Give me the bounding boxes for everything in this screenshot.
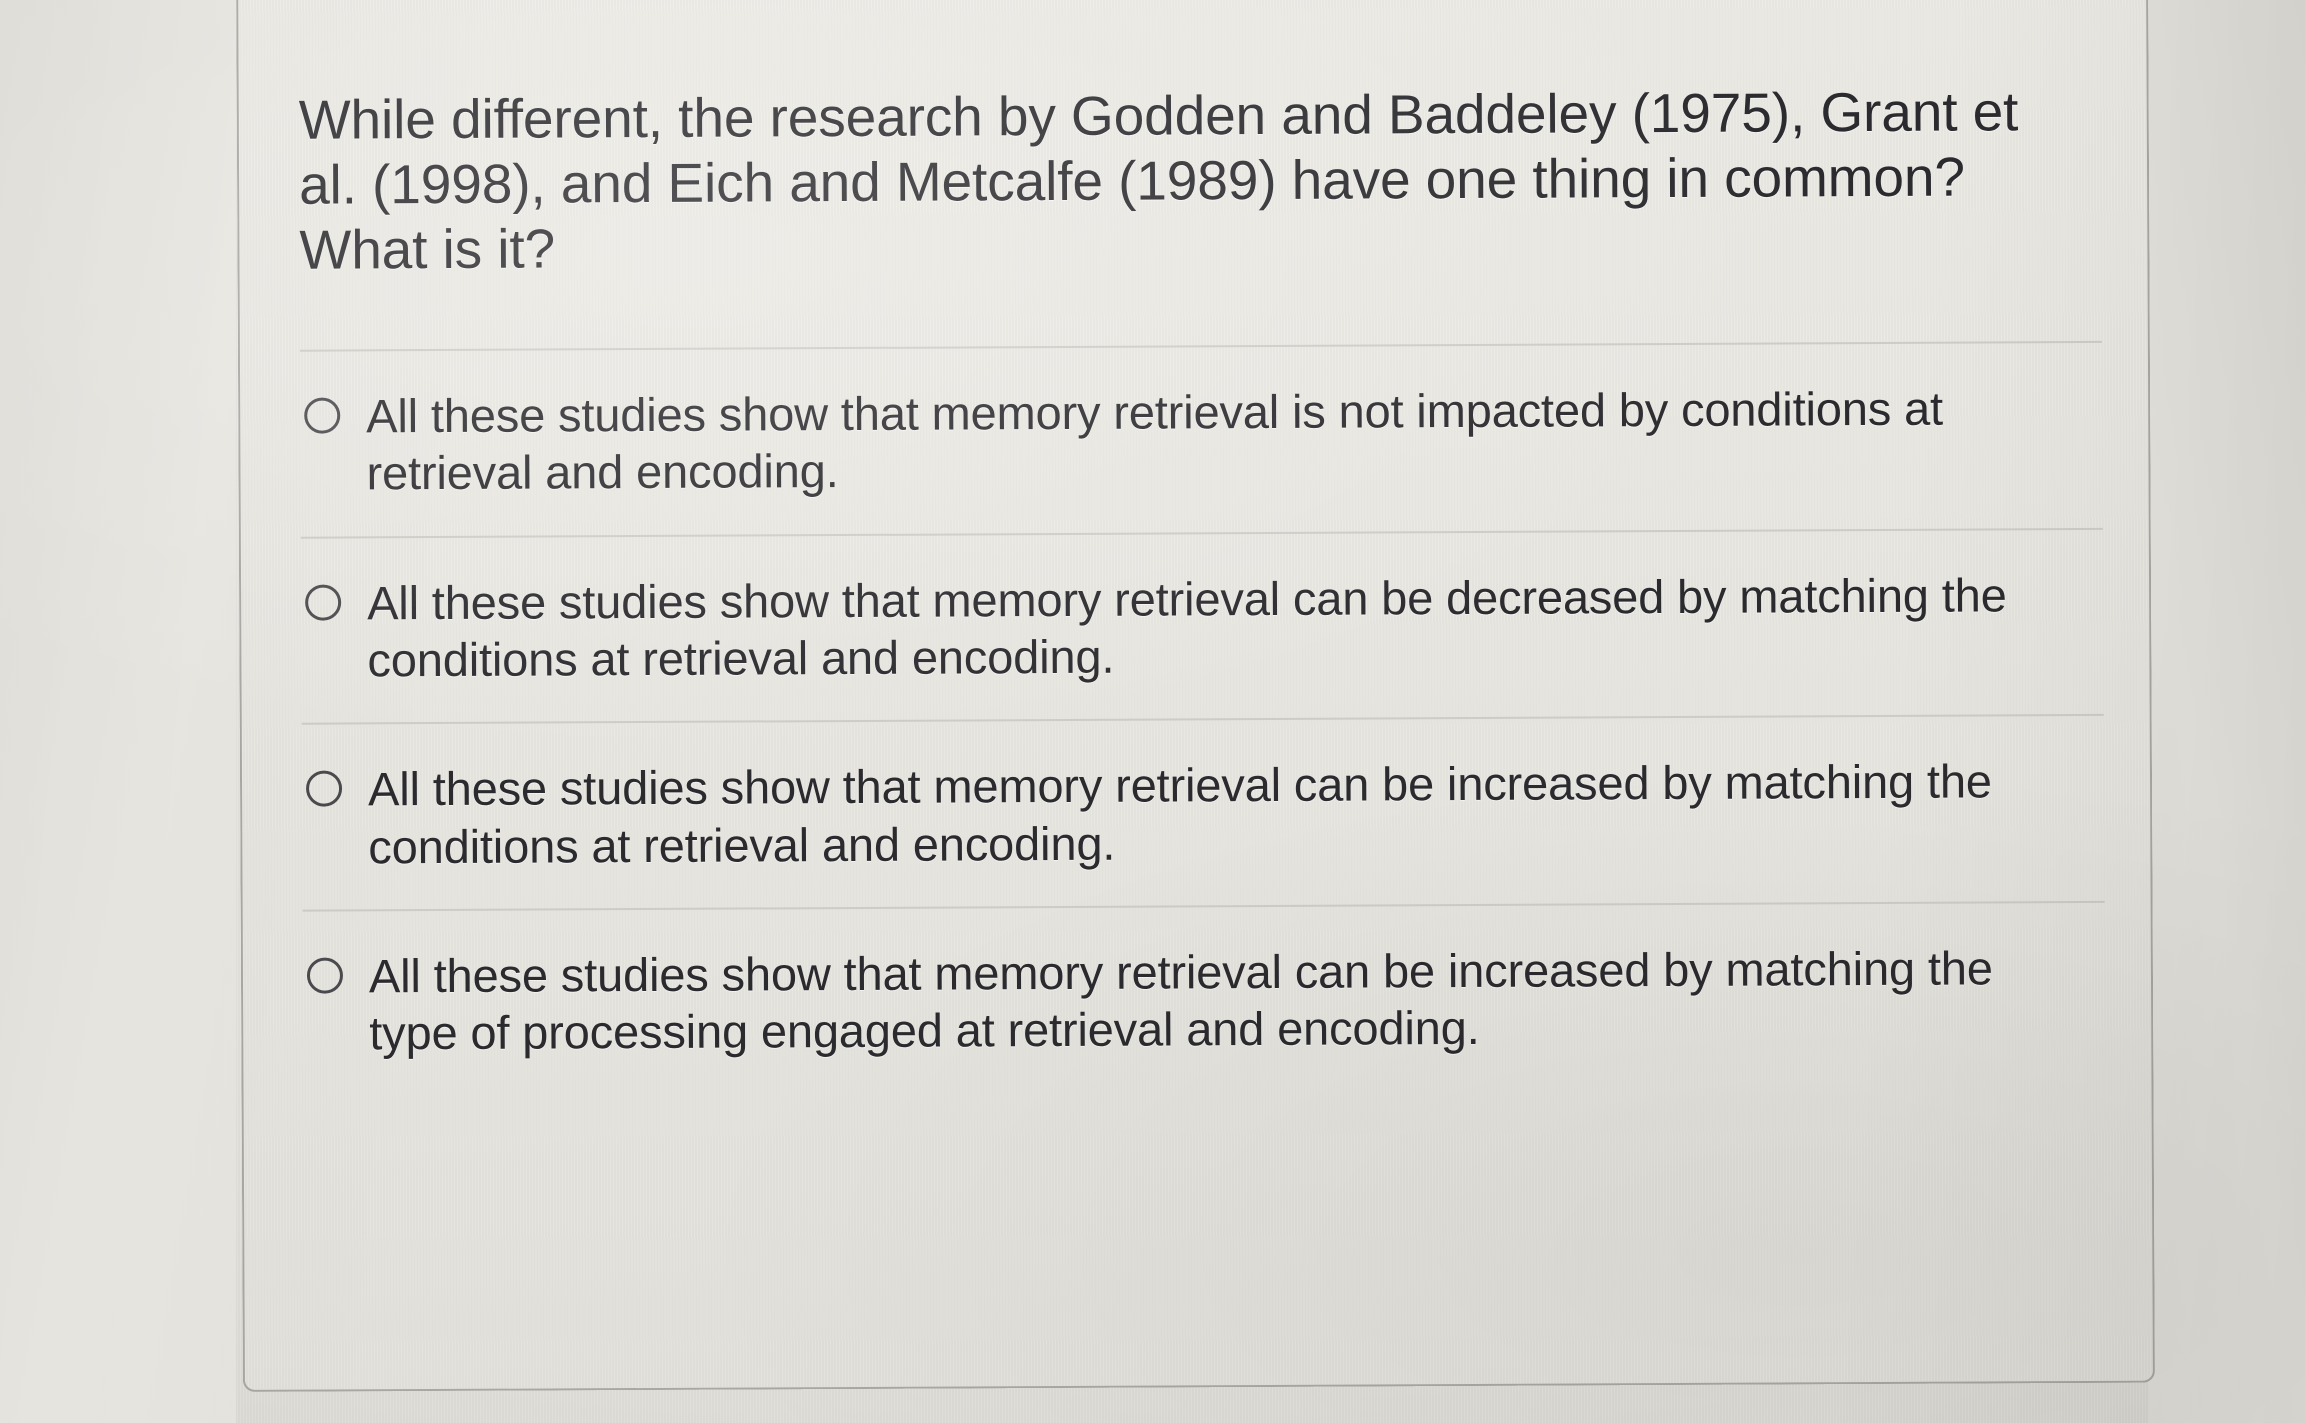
radio-option-3-icon[interactable]	[306, 771, 342, 807]
answer-options-list: All these studies show that memory retri…	[240, 341, 2152, 1097]
question-card: While different, the research by Godden …	[236, 0, 2155, 1392]
answer-option-1-label: All these studies show that memory retri…	[366, 379, 2027, 502]
question-stem: While different, the research by Godden …	[299, 79, 2090, 282]
answer-option-2[interactable]: All these studies show that memory retri…	[241, 529, 2150, 723]
answer-option-4-label: All these studies show that memory retri…	[369, 939, 2030, 1062]
radio-option-2-icon[interactable]	[305, 584, 341, 620]
radio-option-4-icon[interactable]	[307, 957, 343, 993]
answer-option-2-label: All these studies show that memory retri…	[367, 566, 2028, 689]
page-margin-left	[0, 0, 236, 1423]
answer-option-3[interactable]: All these studies show that memory retri…	[242, 716, 2151, 910]
answer-option-4[interactable]: All these studies show that memory retri…	[243, 903, 2152, 1097]
radio-option-1-icon[interactable]	[304, 397, 340, 433]
answer-option-1[interactable]: All these studies show that memory retri…	[240, 343, 2149, 537]
question-card-inner: While different, the research by Godden …	[238, 0, 2153, 1390]
answer-option-3-label: All these studies show that memory retri…	[368, 753, 2029, 876]
page-margin-right	[2148, 0, 2305, 1423]
